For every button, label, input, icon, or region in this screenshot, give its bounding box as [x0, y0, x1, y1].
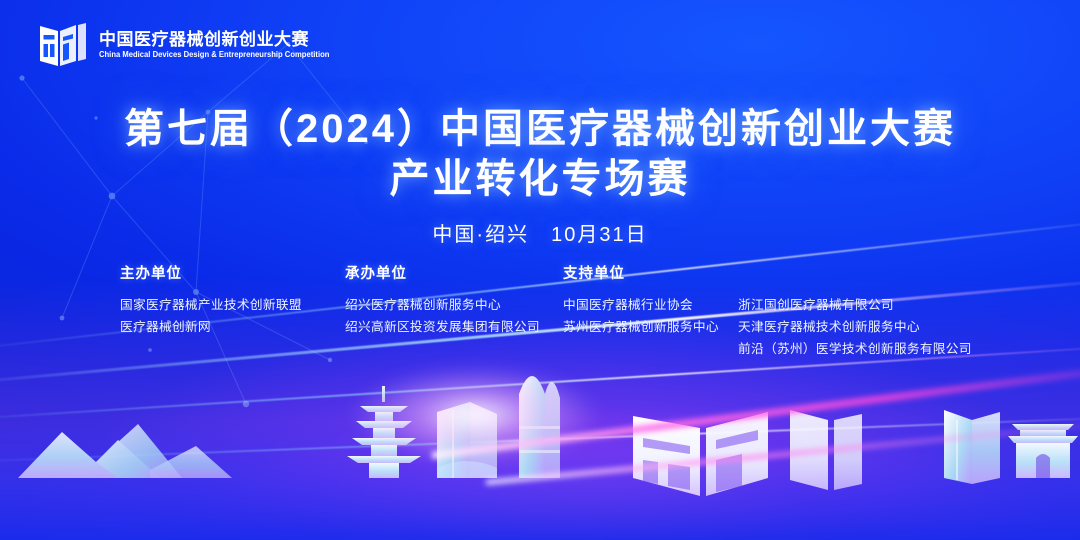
hill-left — [18, 424, 232, 478]
organizer-column-supporter: 支持单位 中国医疗器械行业协会 苏州医疗器械创新服务中心 — [563, 262, 719, 338]
header-logo-text: 中国医疗器械创新创业大赛 China Medical Devices Desig… — [99, 31, 347, 60]
organizer-item: 中国医疗器械行业协会 — [563, 294, 719, 316]
city-skyline-illustration — [0, 350, 1080, 500]
logo-monument — [633, 410, 862, 496]
column-heading-supporter: 支持单位 — [563, 262, 719, 283]
organizer-item: 国家医疗器械产业技术创新联盟 — [120, 294, 302, 316]
location-date: 中国·绍兴 10月31日 — [0, 218, 1080, 247]
organizer-column-supporter-continued: 支持单位续 浙江国创医疗器械有限公司 天津医疗器械技术创新服务中心 前沿（苏州）… — [738, 262, 972, 360]
event-banner: 中国医疗器械创新创业大赛 China Medical Devices Desig… — [0, 0, 1080, 540]
pagoda — [347, 386, 421, 478]
header-logo-cn: 中国医疗器械创新创业大赛 — [99, 31, 347, 50]
main-title-line2: 产业转化专场赛 — [0, 154, 1080, 204]
organizer-item: 天津医疗器械技术创新服务中心 — [738, 316, 972, 338]
magenta-gradient-wash — [0, 350, 1080, 540]
organizer-item: 绍兴高新区投资发展集团有限公司 — [345, 316, 540, 338]
tower-tall — [437, 402, 497, 478]
organizer-item: 绍兴医疗器械创新服务中心 — [345, 294, 540, 316]
tower-right — [944, 410, 1000, 484]
main-title-line1: 第七届（2024）中国医疗器械创新创业大赛 — [0, 104, 1080, 154]
column-heading-co-host: 承办单位 — [345, 262, 540, 283]
organizers-block: 主办单位 国家医疗器械产业技术创新联盟 医疗器械创新网 承办单位 绍兴医疗器械创… — [0, 262, 1080, 372]
organizer-item: 苏州医疗器械创新服务中心 — [563, 316, 719, 338]
blue-floor-gradient — [0, 420, 1080, 540]
organizer-item: 前沿（苏州）医学技术创新服务有限公司 — [738, 338, 972, 360]
light-streak-3 — [0, 416, 1080, 464]
header-logo-en: China Medical Devices Design & Entrepren… — [99, 50, 329, 61]
magenta-streak-1 — [432, 357, 1080, 459]
organizer-item: 浙江国创医疗器械有限公司 — [738, 294, 972, 316]
organizer-column-co-host: 承办单位 绍兴医疗器械创新服务中心 绍兴高新区投资发展集团有限公司 — [345, 262, 540, 338]
header-logo-lockup: 中国医疗器械创新创业大赛 China Medical Devices Desig… — [38, 22, 347, 70]
magenta-streak-2 — [486, 417, 1080, 485]
organizer-column-host: 主办单位 国家医疗器械产业技术创新联盟 医疗器械创新网 — [120, 262, 302, 338]
organizer-item: 医疗器械创新网 — [120, 316, 302, 338]
competition-logo-icon — [38, 22, 88, 70]
traditional-gate — [1008, 424, 1078, 478]
column-heading-host: 主办单位 — [120, 262, 302, 283]
tower-spire — [519, 376, 560, 478]
title-block: 第七届（2024）中国医疗器械创新创业大赛 产业转化专场赛 中国·绍兴 10月3… — [0, 104, 1080, 247]
